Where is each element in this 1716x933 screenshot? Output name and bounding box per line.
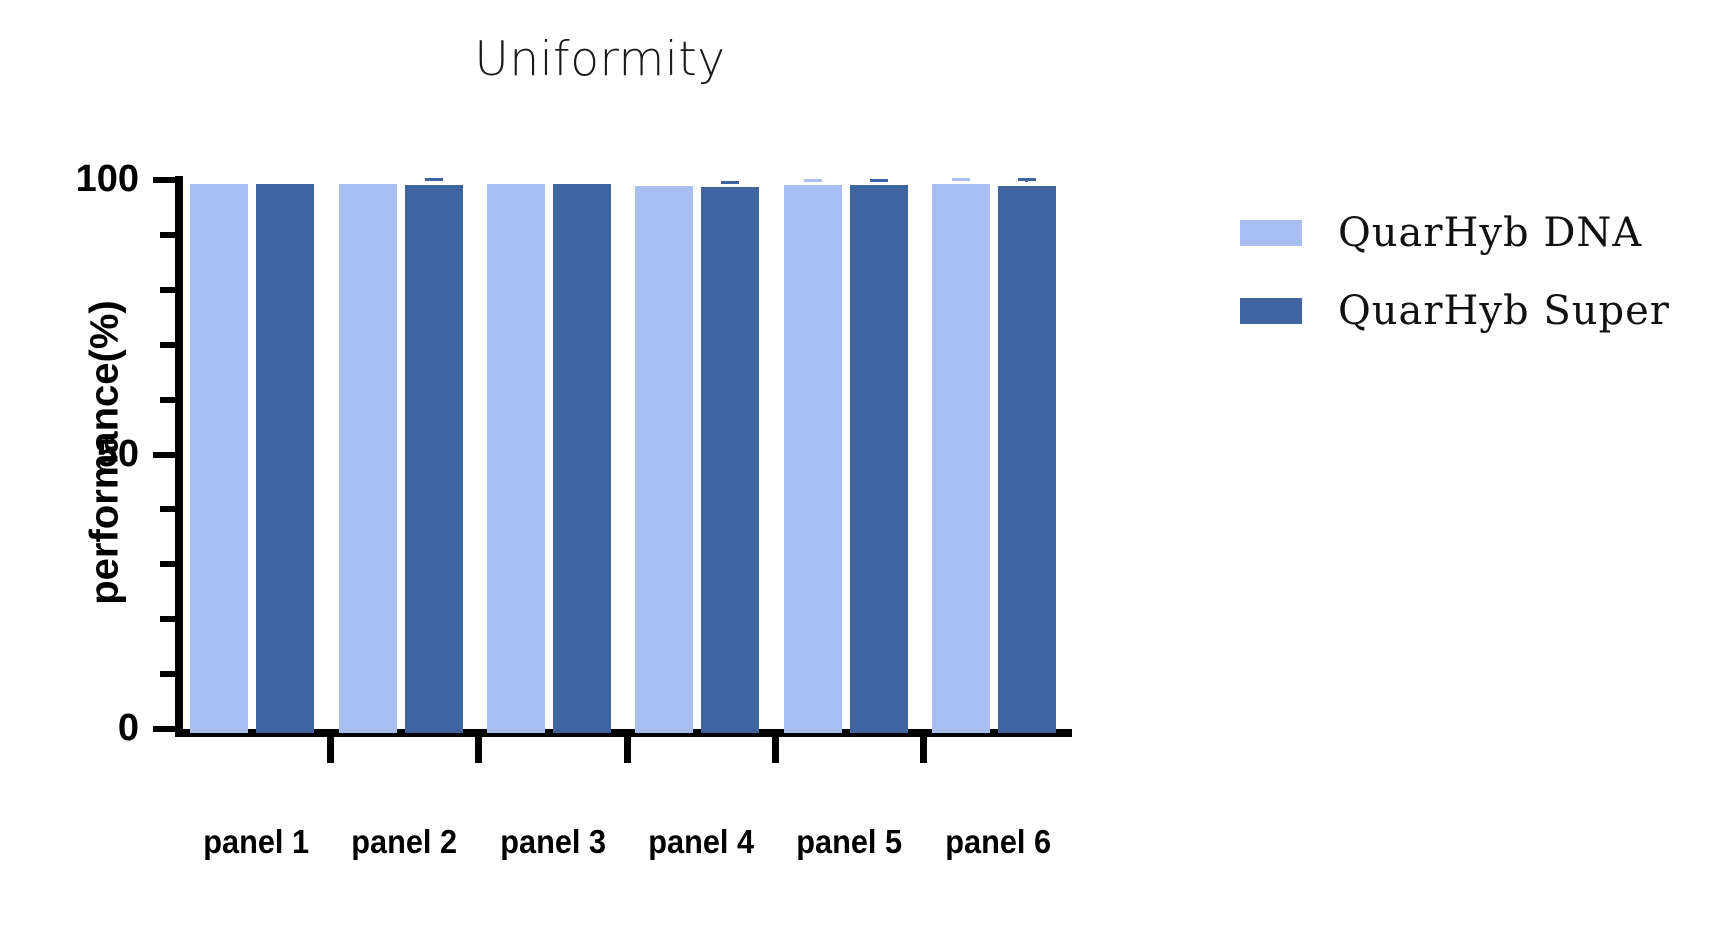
- y-axis-minor-tick: [160, 506, 175, 512]
- error-bar-cap: [1018, 178, 1036, 181]
- x-axis-tick-label: panel 4: [632, 825, 770, 858]
- error-bar-cap: [804, 179, 822, 182]
- y-axis-major-tick: [153, 177, 175, 183]
- bar: [339, 184, 397, 733]
- bar: [635, 186, 693, 733]
- error-bar-cap: [425, 178, 443, 181]
- legend-label: QuarHyb DNA: [1338, 210, 1642, 256]
- legend-swatch: [1240, 220, 1302, 246]
- error-bar-cap: [870, 179, 888, 182]
- chart-legend: QuarHyb DNAQuarHyb Super: [1240, 194, 1710, 350]
- y-axis-tick-label: 0: [29, 709, 139, 747]
- x-axis-tick: [624, 737, 631, 763]
- bar: [850, 185, 908, 733]
- bar: [487, 184, 545, 733]
- legend-label: QuarHyb Super: [1338, 288, 1670, 334]
- x-axis-tick-label: panel 3: [484, 825, 622, 858]
- x-axis-tick: [475, 737, 482, 763]
- chart-figure: Uniformity performance(%) 050100 panel 1…: [0, 0, 1716, 933]
- bar: [553, 184, 611, 733]
- bar: [256, 184, 314, 733]
- legend-item[interactable]: QuarHyb DNA: [1240, 194, 1710, 272]
- y-axis-major-tick: [153, 726, 175, 732]
- y-axis-major-tick: [153, 452, 175, 458]
- legend-item[interactable]: QuarHyb Super: [1240, 272, 1710, 350]
- bar: [190, 184, 248, 733]
- x-axis-tick: [327, 737, 334, 763]
- x-axis-tick-label: panel 1: [187, 825, 325, 858]
- bar: [405, 185, 463, 733]
- bar: [932, 184, 990, 733]
- y-axis-minor-tick: [160, 232, 175, 238]
- bar: [998, 186, 1056, 733]
- y-axis-tick-label: 100: [29, 160, 139, 198]
- bar: [784, 185, 842, 733]
- plot-area: [182, 180, 1072, 733]
- y-axis-minor-tick: [160, 397, 175, 403]
- x-axis-tick: [772, 737, 779, 763]
- y-axis-minor-tick: [160, 561, 175, 567]
- y-axis-minor-tick: [160, 671, 175, 677]
- x-axis-tick: [920, 737, 927, 763]
- error-bar-cap: [721, 181, 739, 184]
- legend-swatch: [1240, 298, 1302, 324]
- chart-title: Uniformity: [0, 36, 1200, 83]
- y-axis-tick-label: 50: [29, 435, 139, 473]
- bar: [701, 187, 759, 733]
- x-axis-tick-label: panel 6: [929, 825, 1067, 858]
- y-axis-minor-tick: [160, 342, 175, 348]
- y-axis-minor-tick: [160, 616, 175, 622]
- y-axis-minor-tick: [160, 287, 175, 293]
- x-axis-tick-label: panel 2: [336, 825, 474, 858]
- error-bar-cap: [952, 178, 970, 181]
- x-axis-tick-label: panel 5: [781, 825, 919, 858]
